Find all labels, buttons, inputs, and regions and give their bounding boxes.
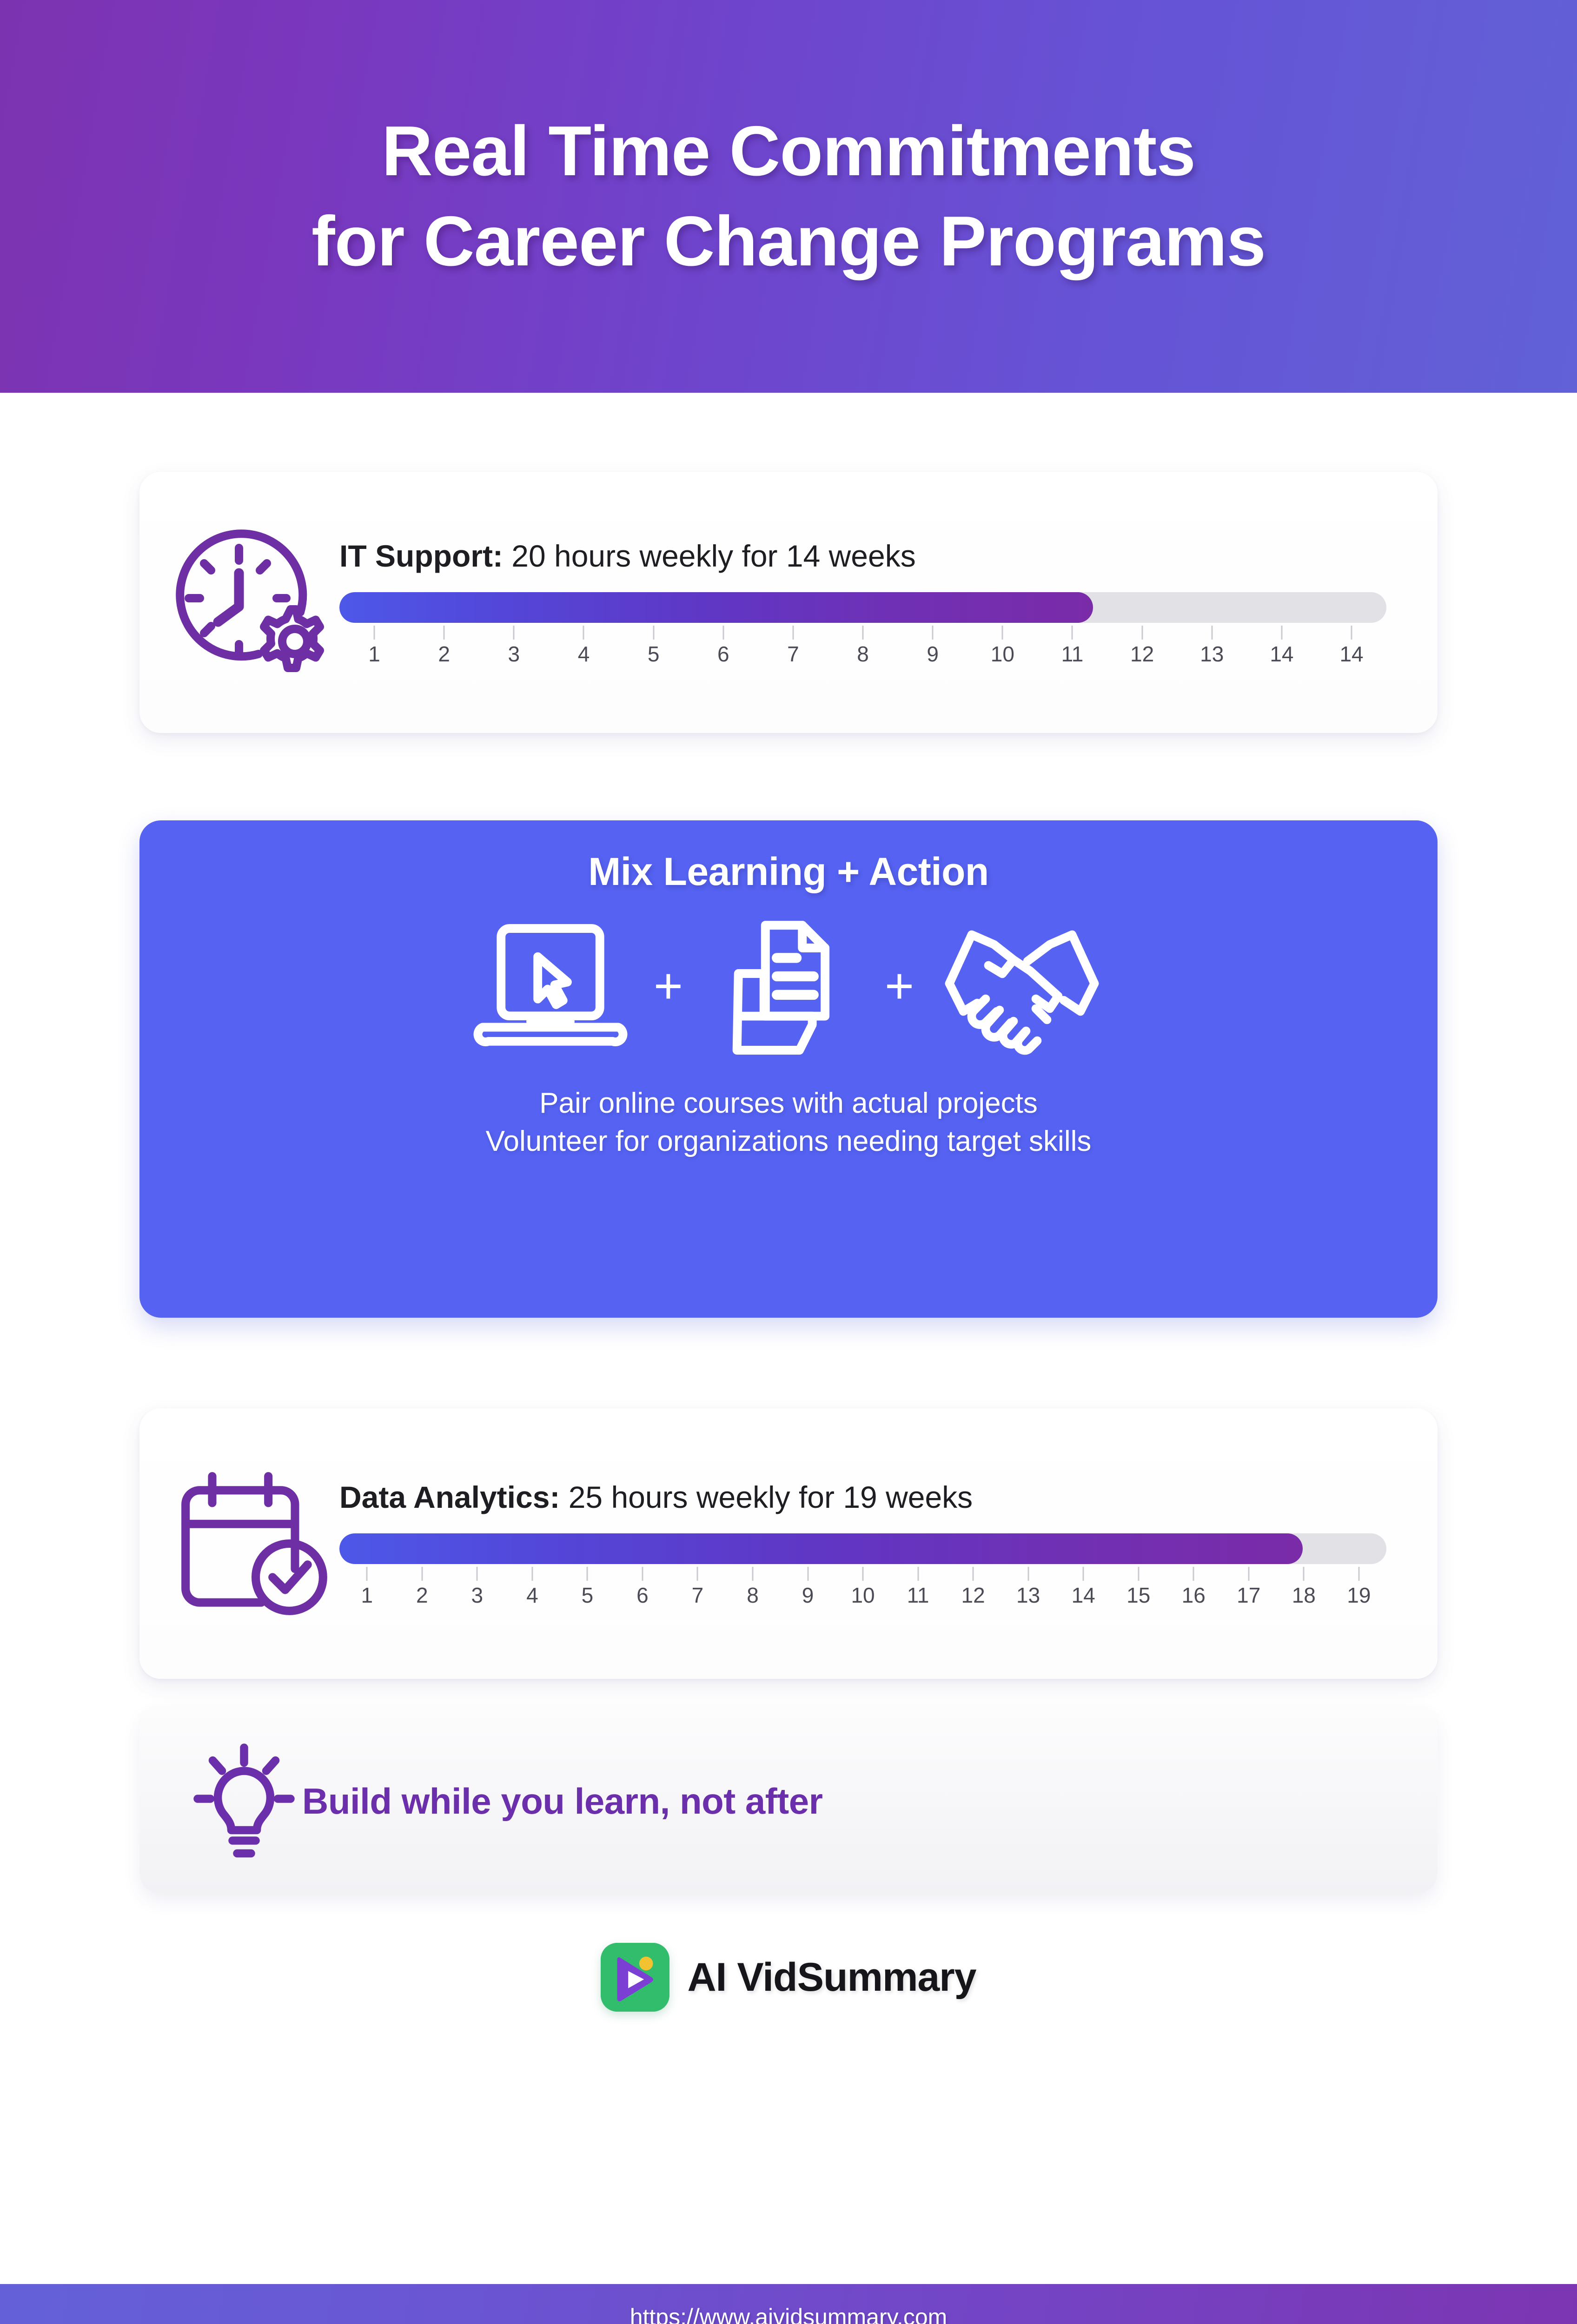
feature-icon-row: + +: [471, 917, 1106, 1058]
it-support-title-rest: 20 hours weekly for 14 weeks: [503, 539, 916, 573]
feature-description: Pair online courses with actual projects…: [486, 1084, 1092, 1161]
tick-mark: [967, 623, 1037, 640]
tick-line: [653, 626, 654, 640]
page-title-line-2: for Career Change Programs: [311, 197, 1266, 286]
tick-line: [444, 626, 445, 640]
tick-mark: [758, 623, 828, 640]
tick-label: 10: [835, 1583, 891, 1608]
plus-sign-2: +: [885, 961, 914, 1015]
tip-card: Build while you learn, not after: [139, 1708, 1438, 1894]
tick-line: [752, 1567, 753, 1581]
footer-bar: https://www.aividsummary.com: [0, 2284, 1577, 2324]
tick-mark: [1037, 623, 1107, 640]
tick-label: 6: [689, 641, 758, 667]
tick-mark: [549, 623, 618, 640]
data-analytics-body: Data Analytics: 25 hours weekly for 19 w…: [339, 1479, 1405, 1608]
play-button-logo: [601, 1943, 669, 2012]
tick-line: [1351, 626, 1352, 640]
tick-label: 2: [409, 641, 479, 667]
footer-url[interactable]: https://www.aividsummary.com: [630, 2304, 948, 2324]
tick-label: 7: [758, 641, 828, 667]
tick-line: [513, 626, 515, 640]
data-analytics-tick-labels: 12345678910111213141516171819: [339, 1583, 1386, 1608]
tick-label: 5: [560, 1583, 615, 1608]
lightbulb-icon: [186, 1743, 302, 1859]
tick-line: [1138, 1567, 1139, 1581]
tick-label: 7: [670, 1583, 725, 1608]
tick-mark: [835, 1564, 891, 1581]
folder-document-icon: [707, 917, 861, 1058]
tick-label: 2: [395, 1583, 450, 1608]
tick-label: 6: [615, 1583, 670, 1608]
tick-line: [587, 1567, 588, 1581]
tick-label: 12: [946, 1583, 1001, 1608]
tick-mark: [619, 623, 689, 640]
tick-label: 14: [1056, 1583, 1111, 1608]
tick-line: [862, 626, 864, 640]
tick-line: [973, 1567, 974, 1581]
infographic-page: Real Time Commitments for Career Change …: [0, 0, 1577, 2324]
tick-line: [722, 626, 724, 640]
data-analytics-title-rest: 25 hours weekly for 19 weeks: [560, 1480, 973, 1514]
it-support-progress-fill: [339, 592, 1093, 623]
tick-line: [1083, 1567, 1084, 1581]
tick-line: [862, 1567, 864, 1581]
tick-label: 14: [1317, 641, 1386, 667]
data-analytics-progress-track: [339, 1533, 1386, 1564]
tick-mark: [505, 1564, 560, 1581]
tick-label: 10: [967, 641, 1037, 667]
tick-label: 1: [339, 641, 409, 667]
feature-title: Mix Learning + Action: [588, 849, 989, 894]
it-support-title: IT Support: 20 hours weekly for 14 weeks: [339, 538, 1386, 574]
tick-mark: [339, 623, 409, 640]
data-analytics-title: Data Analytics: 25 hours weekly for 19 w…: [339, 1479, 1386, 1515]
tick-label: 13: [1001, 1583, 1056, 1608]
tick-mark: [395, 1564, 450, 1581]
tick-label: 8: [828, 641, 898, 667]
it-support-tick-labels: 123456789101112131414: [339, 641, 1386, 667]
data-analytics-card: Data Analytics: 25 hours weekly for 19 w…: [139, 1408, 1438, 1679]
tick-mark: [946, 1564, 1001, 1581]
tick-label: 12: [1107, 641, 1177, 667]
tick-line: [1281, 626, 1282, 640]
tick-line: [807, 1567, 808, 1581]
tick-mark: [1111, 1564, 1166, 1581]
clock-gear-icon: [172, 526, 339, 679]
tick-label: 4: [549, 641, 618, 667]
tick-label: 1: [339, 1583, 395, 1608]
mix-learning-action-card: Mix Learning + Action +: [139, 820, 1438, 1318]
tick-mark: [1317, 623, 1386, 640]
content-area: IT Support: 20 hours weekly for 14 weeks…: [0, 393, 1577, 2284]
tick-label: 13: [1177, 641, 1247, 667]
tick-line: [421, 1567, 423, 1581]
tick-mark: [725, 1564, 781, 1581]
tick-mark: [1247, 623, 1317, 640]
tick-mark: [560, 1564, 615, 1581]
tick-line: [697, 1567, 698, 1581]
tick-line: [1211, 626, 1213, 640]
tick-label: 9: [780, 1583, 835, 1608]
tick-label: 19: [1332, 1583, 1387, 1608]
tick-mark: [1166, 1564, 1221, 1581]
tick-line: [642, 1567, 643, 1581]
tick-mark: [898, 623, 967, 640]
tick-line: [477, 1567, 478, 1581]
tick-label: 9: [898, 641, 967, 667]
it-support-card: IT Support: 20 hours weekly for 14 weeks…: [139, 472, 1438, 733]
tick-label: 8: [725, 1583, 781, 1608]
laptop-cursor-icon: [471, 917, 629, 1058]
tick-mark: [1276, 1564, 1332, 1581]
brand-row: AI VidSummary: [0, 1943, 1577, 2012]
data-analytics-progress-fill: [339, 1533, 1303, 1564]
plus-sign-1: +: [654, 961, 683, 1015]
tick-mark: [828, 623, 898, 640]
tick-mark: [1056, 1564, 1111, 1581]
data-analytics-title-bold: Data Analytics:: [339, 1480, 560, 1514]
tick-label: 11: [1037, 641, 1107, 667]
tick-line: [1303, 1567, 1305, 1581]
tick-line: [792, 626, 794, 640]
tick-line: [1002, 626, 1003, 640]
feature-line-2: Volunteer for organizations needing targ…: [486, 1122, 1092, 1161]
tick-line: [1072, 626, 1073, 640]
tip-text: Build while you learn, not after: [302, 1780, 822, 1822]
handshake-icon: [938, 917, 1106, 1058]
page-title: Real Time Commitments for Career Change …: [311, 106, 1266, 286]
page-title-line-1: Real Time Commitments: [311, 106, 1266, 196]
it-support-tick-marks: [339, 623, 1386, 640]
calendar-check-icon: [172, 1467, 339, 1620]
tick-line: [1358, 1567, 1359, 1581]
tick-label: 14: [1247, 641, 1317, 667]
tick-mark: [409, 623, 479, 640]
tick-line: [1193, 1567, 1194, 1581]
tick-label: 18: [1276, 1583, 1332, 1608]
data-analytics-tick-marks: [339, 1564, 1386, 1581]
tick-line: [917, 1567, 919, 1581]
tick-line: [374, 626, 375, 640]
tick-label: 17: [1221, 1583, 1277, 1608]
tick-label: 3: [479, 641, 549, 667]
tick-label: 16: [1166, 1583, 1221, 1608]
tick-label: 11: [890, 1583, 946, 1608]
tick-label: 4: [505, 1583, 560, 1608]
tick-mark: [670, 1564, 725, 1581]
tick-line: [1027, 1567, 1029, 1581]
tick-line: [583, 626, 584, 640]
tick-mark: [780, 1564, 835, 1581]
tick-label: 3: [450, 1583, 505, 1608]
tick-mark: [450, 1564, 505, 1581]
tick-label: 5: [619, 641, 689, 667]
tick-line: [932, 626, 934, 640]
tick-line: [1141, 626, 1143, 640]
tick-mark: [1221, 1564, 1277, 1581]
it-support-body: IT Support: 20 hours weekly for 14 weeks…: [339, 538, 1405, 667]
it-support-title-bold: IT Support:: [339, 539, 503, 573]
it-support-progress-track: [339, 592, 1386, 623]
tick-mark: [689, 623, 758, 640]
tick-line: [531, 1567, 533, 1581]
tick-mark: [890, 1564, 946, 1581]
header-banner: Real Time Commitments for Career Change …: [0, 0, 1577, 393]
tick-mark: [615, 1564, 670, 1581]
tick-mark: [1107, 623, 1177, 640]
tick-mark: [339, 1564, 395, 1581]
brand-name: AI VidSummary: [687, 1954, 976, 2000]
tick-mark: [479, 623, 549, 640]
tick-line: [366, 1567, 368, 1581]
tick-label: 15: [1111, 1583, 1166, 1608]
tick-mark: [1332, 1564, 1387, 1581]
tick-mark: [1001, 1564, 1056, 1581]
tick-mark: [1177, 623, 1247, 640]
tick-line: [1248, 1567, 1249, 1581]
feature-line-1: Pair online courses with actual projects: [486, 1084, 1092, 1122]
